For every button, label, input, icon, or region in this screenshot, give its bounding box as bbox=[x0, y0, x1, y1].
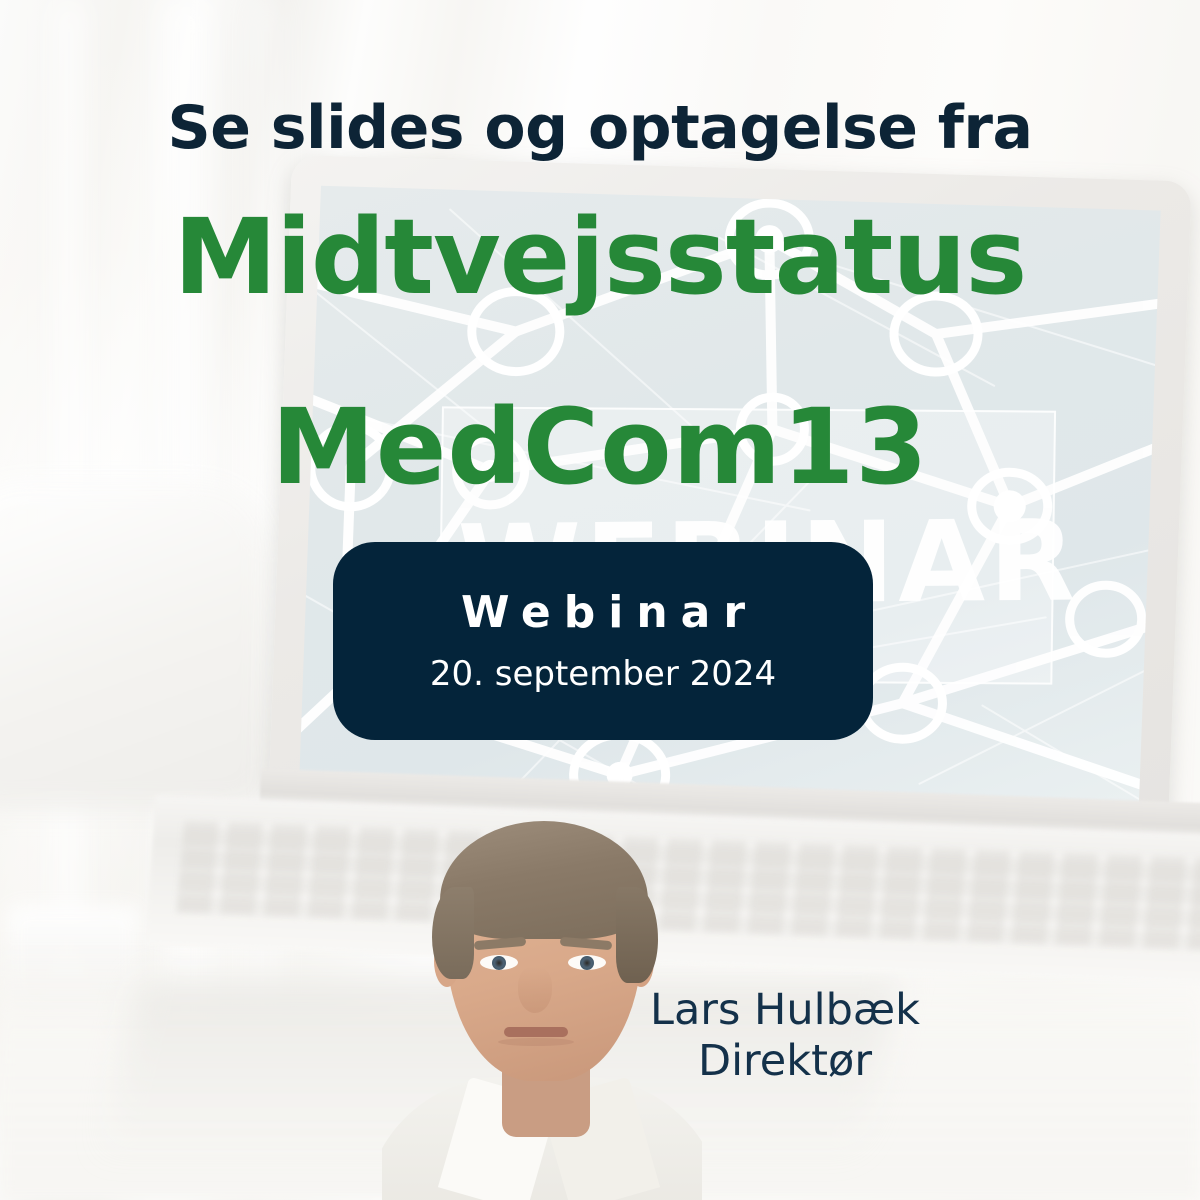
speaker-name: Lars Hulbæk bbox=[600, 985, 970, 1036]
badge-event-type: Webinar bbox=[448, 591, 758, 635]
badge-event-date: 20. september 2024 bbox=[430, 657, 776, 691]
portrait-nose bbox=[518, 967, 552, 1013]
portrait-eye-left bbox=[480, 955, 518, 970]
title-line-2: MedCom13 bbox=[0, 395, 1200, 499]
title-line-1: Midtvejsstatus bbox=[0, 205, 1200, 309]
headline-text: Se slides og optagelse fra bbox=[0, 98, 1200, 158]
speaker-caption: Lars Hulbæk Direktør bbox=[600, 985, 970, 1086]
portrait-hair-side-left bbox=[432, 887, 474, 979]
portrait-eye-right bbox=[568, 955, 606, 970]
portrait-chin-shadow bbox=[498, 1038, 574, 1046]
portrait-iris-left bbox=[492, 956, 506, 970]
portrait-mouth bbox=[504, 1027, 568, 1037]
speaker-role: Direktør bbox=[600, 1036, 970, 1087]
webinar-promo-poster: WEBINAR Se slides og optagelse fra Midtv… bbox=[0, 0, 1200, 1200]
event-badge: Webinar 20. september 2024 bbox=[333, 542, 873, 740]
portrait-iris-right bbox=[580, 956, 594, 970]
blurred-chair bbox=[0, 480, 270, 810]
